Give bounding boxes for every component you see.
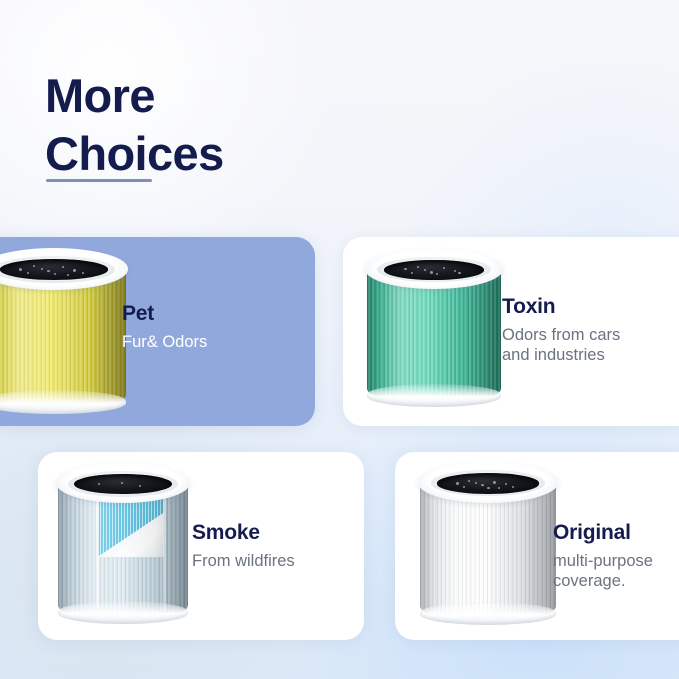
card-subtitle-original-line-2: coverage. [553, 571, 653, 591]
card-subtitle-toxin-line-2: and industries [502, 345, 620, 365]
card-subtitle-smoke: From wildfires [192, 551, 295, 571]
page-title-line-2: Choices [45, 125, 465, 182]
page-title: More Choices [45, 67, 465, 182]
filter-base-ring [0, 390, 126, 414]
card-text-smoke: Smoke From wildfires [192, 521, 295, 571]
filter-top-rim [418, 462, 558, 503]
card-subtitle-toxin: Odors from cars and industries [502, 325, 620, 365]
filter-image-toxin [367, 254, 501, 405]
filter-top-rim [365, 249, 503, 288]
card-title-pet: Pet [122, 302, 207, 326]
card-title-original: Original [553, 521, 653, 545]
page-title-line-1: More [45, 69, 155, 122]
filter-image-pet [0, 253, 126, 412]
card-subtitle-original: multi-purpose coverage. [553, 551, 653, 591]
carbon-granules [384, 260, 485, 280]
card-text-pet: Pet Fur& Odors [122, 302, 207, 352]
filter-base-ring [420, 602, 556, 625]
card-subtitle-toxin-line-1: Odors from cars [502, 325, 620, 345]
promo-page: More Choices [0, 0, 679, 679]
filter-carbon-core [0, 259, 108, 280]
filter-image-smoke [58, 468, 188, 622]
filter-base-ring [367, 384, 501, 407]
card-subtitle-original-line-1: multi-purpose [553, 551, 653, 571]
filter-image-original [420, 467, 556, 623]
carbon-granules [74, 474, 172, 494]
card-title-smoke: Smoke [192, 521, 295, 545]
carbon-granules [437, 473, 539, 493]
card-text-toxin: Toxin Odors from cars and industries [502, 295, 620, 365]
filter-carbon-core [74, 474, 172, 494]
card-title-toxin: Toxin [502, 295, 620, 319]
card-subtitle-pet: Fur& Odors [122, 332, 207, 352]
filter-base-ring [58, 601, 188, 624]
filter-carbon-core [384, 260, 485, 280]
filter-carbon-core [437, 473, 539, 493]
carbon-granules [0, 259, 108, 280]
title-underline-rule [46, 179, 152, 182]
card-text-original: Original multi-purpose coverage. [553, 521, 653, 591]
